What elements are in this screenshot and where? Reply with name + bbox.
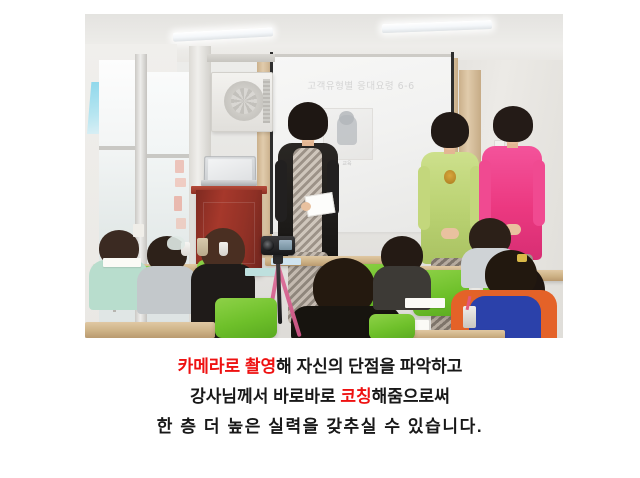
presenter-hands (441, 228, 459, 239)
tripod-head (273, 254, 283, 264)
presenter-arm (479, 160, 491, 226)
screen-top-bar (271, 54, 451, 57)
audience-body (137, 266, 197, 314)
chair (215, 298, 277, 338)
presenter-hair (431, 112, 469, 148)
window-mullion (147, 154, 191, 158)
slide-root: 고객유형별 응대요령 6-6 교육 (0, 0, 640, 478)
caption-line-2: 강사님께서 바로바로 코칭해줌으로써 (0, 382, 640, 412)
caption-line-2-text-a: 강사님께서 바로바로 (190, 387, 340, 406)
plastic-bag (167, 236, 185, 250)
window-sticker (175, 178, 186, 187)
presenter-hand (301, 202, 311, 211)
ac-bracket (207, 54, 275, 62)
presenter-hair (493, 106, 533, 142)
paper-sheet (405, 298, 445, 308)
projected-slide-title: 고객유형별 응대요령 6-6 (271, 78, 451, 92)
camera-lens-icon (263, 240, 274, 251)
ac-grill (224, 81, 264, 121)
necklace-icon (444, 170, 456, 184)
paper-sheet (103, 258, 141, 267)
camcorder-icon (261, 236, 295, 255)
window-sticker (176, 218, 186, 229)
presenter-arm (533, 160, 545, 226)
classroom-photo: 고객유형별 응대요령 6-6 교육 (85, 14, 563, 338)
presenter-arm (418, 166, 430, 230)
camera-lcd (279, 240, 292, 250)
presenter-arm (275, 160, 287, 222)
window-sticker (175, 160, 184, 173)
caption-line-1-text: 해 자신의 단점을 파악하고 (276, 357, 462, 376)
caption-block: 카메라로 촬영해 자신의 단점을 파악하고 강사님께서 바로바로 코칭해줌으로써… (0, 352, 640, 442)
ac-fan (231, 88, 257, 114)
caption-line-1: 카메라로 촬영해 자신의 단점을 파악하고 (0, 352, 640, 382)
hair-clip-icon (517, 254, 527, 262)
desk (85, 322, 215, 338)
presenter-hair (288, 102, 328, 140)
caption-line-2-text-b: 해줌으로써 (372, 387, 450, 406)
caption-line-1-highlight: 카메라로 촬영 (178, 357, 277, 376)
paper-cup (197, 238, 208, 256)
caption-line-2-highlight: 코칭 (340, 387, 371, 406)
caption-line-3: 한 층 더 높은 실력을 갖추실 수 있습니다. (0, 412, 640, 442)
chair (369, 314, 415, 338)
ac-vent (263, 79, 270, 123)
paper-cup (133, 224, 144, 237)
photo-scene: 고객유형별 응대요령 6-6 교육 (85, 14, 563, 338)
paper-cup (219, 242, 228, 256)
window-sticker (174, 196, 182, 211)
laptop-screen (208, 159, 252, 180)
air-conditioner-icon (211, 72, 273, 132)
window-mullion (99, 146, 135, 150)
